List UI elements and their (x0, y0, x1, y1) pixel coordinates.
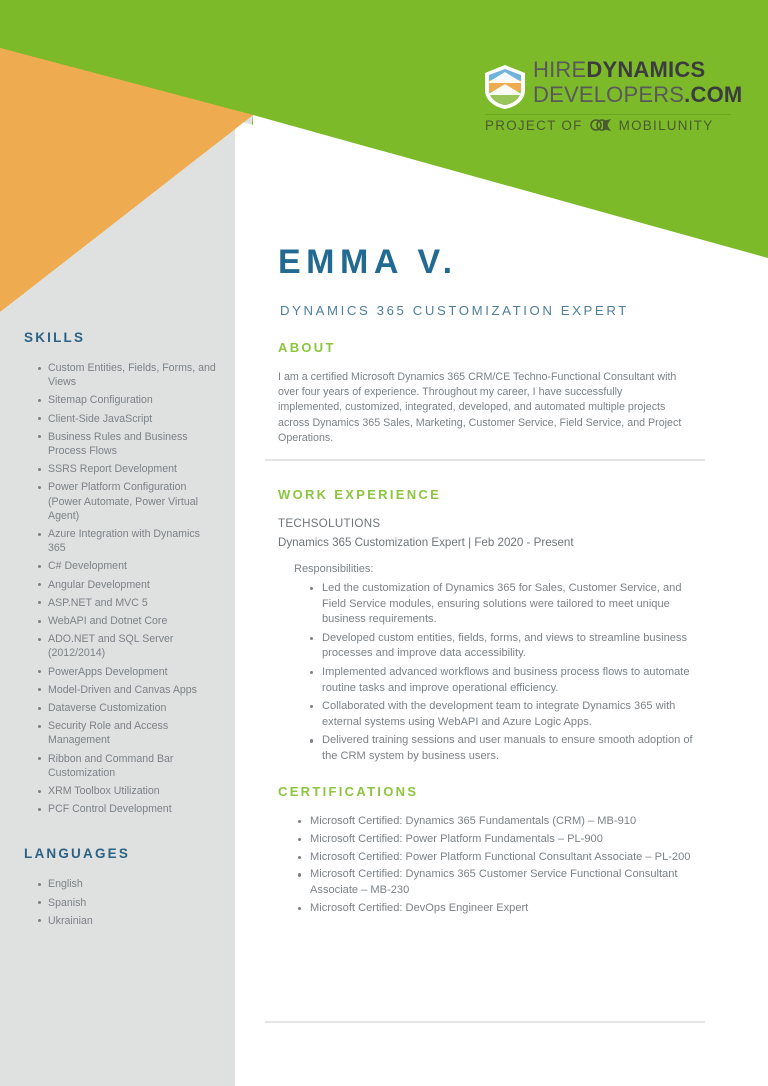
list-item: Azure Integration with Dynamics 365 (38, 527, 217, 555)
list-item: Microsoft Certified: DevOps Engineer Exp… (298, 901, 708, 917)
page-title: EMMA V. (278, 245, 458, 279)
list-item: Microsoft Certified: Dynamics 365 Fundam… (298, 814, 708, 830)
list-item: Ukrainian (38, 914, 217, 928)
list-item: Ribbon and Command Bar Customization (38, 752, 217, 780)
list-item: PowerApps Development (38, 665, 217, 679)
job-title-dates: Dynamics 365 Customization Expert | Feb … (278, 536, 708, 549)
languages-list: EnglishSpanishUkrainian (24, 877, 235, 928)
sidebar-content: SKILLS Custom Entities, Fields, Forms, a… (0, 330, 235, 932)
list-item: Delivered training sessions and user man… (310, 733, 708, 764)
list-item: PCF Control Development (38, 802, 217, 816)
skills-heading: SKILLS (24, 330, 235, 345)
list-item: SSRS Report Development (38, 462, 217, 476)
list-item: Microsoft Certified: Power Platform Fund… (298, 832, 708, 848)
about-heading: ABOUT (278, 340, 708, 355)
list-item: ADO.NET and SQL Server (2012/2014) (38, 632, 217, 660)
logo-line-2: DEVELOPERS.COM (533, 82, 742, 107)
about-text: I am a certified Microsoft Dynamics 365 … (278, 370, 688, 446)
list-item: Client-Side JavaScript (38, 412, 217, 426)
responsibilities-label: Responsibilities: (294, 563, 708, 575)
list-item: XRM Toolbox Utilization (38, 784, 217, 798)
resume-page: HIREDYNAMICS DEVELOPERS.COM PROJECT OF M… (0, 0, 768, 1086)
languages-heading: LANGUAGES (24, 846, 235, 861)
page-subtitle: DYNAMICS 365 CUSTOMIZATION EXPERT (280, 304, 629, 317)
list-item: Developed custom entities, fields, forms… (310, 631, 708, 662)
list-item: ASP.NET and MVC 5 (38, 596, 217, 610)
divider-footer (265, 1021, 705, 1023)
work-experience-heading: WORK EXPERIENCE (278, 487, 708, 502)
list-item: Spanish (38, 896, 217, 910)
list-item: C# Development (38, 559, 217, 573)
list-item: Custom Entities, Fields, Forms, and View… (38, 361, 217, 389)
divider-about-work (265, 459, 705, 461)
certifications-section: CERTIFICATIONS Microsoft Certified: Dyna… (278, 784, 708, 919)
logo-hire-text: HIRE (533, 57, 586, 82)
logo-dotcom-text: .COM (684, 82, 742, 107)
list-item: Microsoft Certified: Power Platform Func… (298, 850, 708, 866)
list-item: Security Role and Access Management (38, 719, 217, 747)
list-item: Dataverse Customization (38, 701, 217, 715)
logo-dynamics-text: DYNAMICS (586, 57, 705, 82)
list-item: Led the customization of Dynamics 365 fo… (310, 581, 708, 628)
logo-divider (485, 114, 731, 115)
company-name: TECHSOLUTIONS (278, 517, 708, 530)
list-item: Model-Driven and Canvas Apps (38, 683, 217, 697)
list-item: Collaborated with the development team t… (310, 699, 708, 730)
brand-logo: HIREDYNAMICS DEVELOPERS.COM PROJECT OF M… (483, 58, 733, 140)
certifications-heading: CERTIFICATIONS (278, 784, 708, 799)
certifications-list: Microsoft Certified: Dynamics 365 Fundam… (278, 814, 708, 917)
about-section: ABOUT I am a certified Microsoft Dynamic… (278, 340, 708, 446)
logo-tagline-brand: MOBILUNITY (619, 118, 714, 133)
responsibilities-list: Led the customization of Dynamics 365 fo… (278, 581, 708, 765)
list-item: Power Platform Configuration (Power Auto… (38, 480, 217, 523)
work-experience-section: WORK EXPERIENCE TECHSOLUTIONS Dynamics 3… (278, 487, 708, 768)
logo-developers-text: DEVELOPERS (533, 82, 684, 107)
list-item: Implemented advanced workflows and busin… (310, 665, 708, 696)
list-item: Sitemap Configuration (38, 393, 217, 407)
logo-tagline: PROJECT OF MOBILUNITY (485, 118, 733, 133)
skills-list: Custom Entities, Fields, Forms, and View… (24, 361, 235, 816)
logo-tagline-prefix: PROJECT OF (485, 118, 583, 133)
list-item: Microsoft Certified: Dynamics 365 Custom… (298, 867, 708, 899)
mobilunity-icon (590, 118, 612, 132)
list-item: Business Rules and Business Process Flow… (38, 430, 217, 458)
list-item: WebAPI and Dotnet Core (38, 614, 217, 628)
logo-line-1: HIREDYNAMICS (533, 58, 742, 82)
hiredynamicsdevelopers-shield-icon (483, 64, 527, 110)
list-item: Angular Development (38, 578, 217, 592)
list-item: English (38, 877, 217, 891)
